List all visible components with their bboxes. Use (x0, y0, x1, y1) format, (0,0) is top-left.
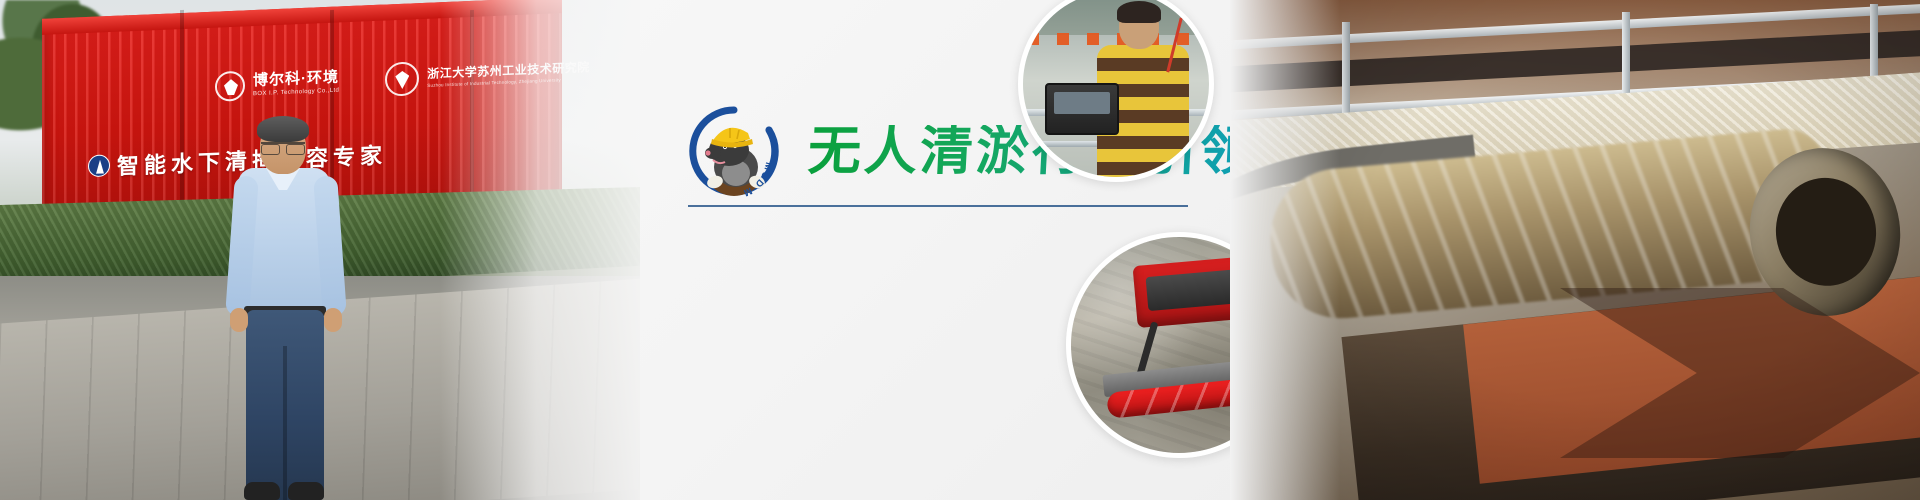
container-seam (470, 10, 474, 218)
company-brand-block: 博尔科·环境 BOX I.P. Technology Co.,Ltd (215, 67, 339, 102)
container-seam (180, 10, 184, 218)
hero-banner: 博尔科·环境 BOX I.P. Technology Co.,Ltd 浙江大学苏… (0, 0, 1920, 500)
shield-icon (88, 154, 110, 177)
left-container-photo: 博尔科·环境 BOX I.P. Technology Co.,Ltd 浙江大学苏… (0, 0, 640, 500)
control-console (1045, 83, 1119, 135)
person-photo-subject (226, 120, 346, 500)
partner-brand-text: 浙江大学苏州工业技术研究院 Suzhou Institute of Indust… (427, 61, 590, 89)
sludge-discharge-photo (1230, 0, 1920, 500)
company-brand-text: 博尔科·环境 BOX I.P. Technology Co.,Ltd (253, 69, 339, 99)
rail-post (1342, 22, 1350, 118)
mud-mole-logo: MUD MOLE (686, 103, 782, 199)
person-hair (257, 116, 309, 142)
operator-circle-photo (1018, 0, 1214, 182)
person-shoe-left (244, 482, 280, 500)
logo-and-headline-row: MUD MOLE 无人清淤行业引领者 (686, 103, 1312, 199)
person-shoe-right (288, 482, 324, 500)
operator-hair (1117, 1, 1161, 23)
partner-emblem-icon (385, 61, 419, 96)
person-hand-left (230, 308, 248, 332)
headline-divider (688, 205, 1188, 207)
company-name-cn: 博尔科·环境 (253, 69, 339, 90)
company-emblem-icon (215, 71, 245, 102)
person-trousers (246, 310, 324, 500)
person-hand-right (324, 308, 342, 332)
company-name-en: BOX I.P. Technology Co.,Ltd (253, 88, 339, 99)
glasses-icon (261, 142, 305, 151)
